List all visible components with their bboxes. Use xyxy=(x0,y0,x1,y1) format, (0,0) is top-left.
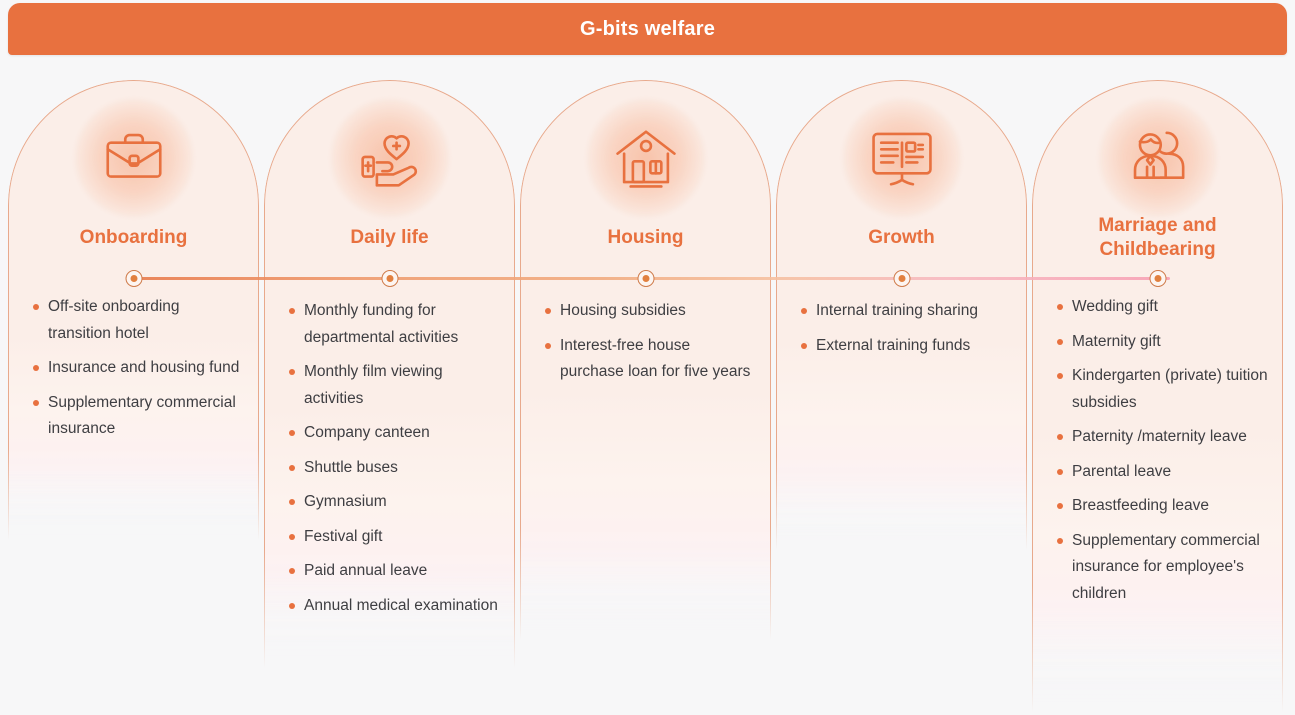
column-title: Marriage and Childbearing xyxy=(1032,214,1283,262)
list-item-label: Supplementary commercial insurance xyxy=(48,394,236,438)
bullet-icon xyxy=(33,304,39,310)
column-title: Onboarding xyxy=(8,226,259,250)
list-item: Interest-free house purchase loan for fi… xyxy=(538,333,757,386)
list-item-label: Parental leave xyxy=(1072,463,1171,480)
benefits-list: Off-site onboarding transition hotel Ins… xyxy=(8,294,259,451)
list-item-label: Company canteen xyxy=(304,424,430,441)
bullet-icon xyxy=(1057,469,1063,475)
bullet-icon xyxy=(289,534,295,540)
list-item-label: Shuttle buses xyxy=(304,459,398,476)
column-title: Daily life xyxy=(264,226,515,250)
column-onboarding: Onboarding Off-site onboarding transitio… xyxy=(8,80,259,712)
timeline-marker xyxy=(637,270,654,287)
list-item: Housing subsidies xyxy=(538,298,757,325)
list-item: Kindergarten (private) tuition subsidies xyxy=(1050,363,1269,416)
column-daily-life: Daily life Monthly funding for departmen… xyxy=(264,80,515,712)
infographic-page: G-bits welfare Onboarding xyxy=(0,0,1295,715)
icon-area xyxy=(520,98,771,218)
list-item-label: Gymnasium xyxy=(304,493,387,510)
bullet-icon xyxy=(545,343,551,349)
icon-area xyxy=(8,98,259,218)
list-item-label: Supplementary commercial insurance for e… xyxy=(1072,532,1260,602)
bullet-icon xyxy=(289,603,295,609)
list-item-label: Annual medical examination xyxy=(304,597,498,614)
column-title: Growth xyxy=(776,226,1027,250)
list-item-label: Maternity gift xyxy=(1072,333,1161,350)
list-item-label: Insurance and housing fund xyxy=(48,359,239,376)
icon-area xyxy=(776,98,1027,218)
list-item: Paternity /maternity leave xyxy=(1050,424,1269,451)
bullet-icon xyxy=(33,365,39,371)
briefcase-icon xyxy=(98,123,170,193)
hand-heart-plus-icon xyxy=(354,123,426,193)
columns-container: Onboarding Off-site onboarding transitio… xyxy=(8,80,1287,712)
list-item-label: Monthly film viewing activities xyxy=(304,363,443,407)
bullet-icon xyxy=(1057,339,1063,345)
couple-icon xyxy=(1122,123,1194,193)
icon-area xyxy=(1032,98,1283,218)
bullet-icon xyxy=(1057,503,1063,509)
list-item: Supplementary commercial insurance for e… xyxy=(1050,528,1269,608)
icon-area xyxy=(264,98,515,218)
list-item: Annual medical examination xyxy=(282,593,501,620)
list-item: Paid annual leave xyxy=(282,558,501,585)
timeline-marker xyxy=(125,270,142,287)
list-item: Company canteen xyxy=(282,420,501,447)
timeline-marker xyxy=(893,270,910,287)
list-item: Monthly funding for departmental activit… xyxy=(282,298,501,351)
bullet-icon xyxy=(289,499,295,505)
benefits-list: Wedding gift Maternity gift Kindergarten… xyxy=(1032,294,1283,615)
bullet-icon xyxy=(289,465,295,471)
list-item: Breastfeeding leave xyxy=(1050,493,1269,520)
bullet-icon xyxy=(1057,373,1063,379)
column-title-line1: Marriage and xyxy=(1032,214,1283,238)
list-item-label: Paid annual leave xyxy=(304,562,427,579)
list-item-label: Off-site onboarding transition hotel xyxy=(48,298,180,342)
list-item: Gymnasium xyxy=(282,489,501,516)
column-title-line2: Childbearing xyxy=(1032,238,1283,262)
list-item: Festival gift xyxy=(282,524,501,551)
bullet-icon xyxy=(289,308,295,314)
list-item-label: Festival gift xyxy=(304,528,382,545)
house-icon xyxy=(610,123,682,193)
bullet-icon xyxy=(33,400,39,406)
header-banner: G-bits welfare xyxy=(8,3,1287,55)
list-item-label: Kindergarten (private) tuition subsidies xyxy=(1072,367,1268,411)
bullet-icon xyxy=(1057,434,1063,440)
page-title: G-bits welfare xyxy=(580,18,715,41)
list-item-label: Wedding gift xyxy=(1072,298,1158,315)
list-item: Shuttle buses xyxy=(282,455,501,482)
list-item: Internal training sharing xyxy=(794,298,1013,325)
list-item-label: Internal training sharing xyxy=(816,302,978,319)
list-item: Parental leave xyxy=(1050,459,1269,486)
column-housing: Housing Housing subsidies Interest-free … xyxy=(520,80,771,712)
list-item-label: Paternity /maternity leave xyxy=(1072,428,1247,445)
bullet-icon xyxy=(289,568,295,574)
benefits-list: Internal training sharing External train… xyxy=(776,298,1027,367)
benefits-list: Monthly funding for departmental activit… xyxy=(264,298,515,627)
column-growth: Growth Internal training sharing Externa… xyxy=(776,80,1027,712)
list-item-label: Breastfeeding leave xyxy=(1072,497,1209,514)
list-item: Insurance and housing fund xyxy=(26,355,245,382)
list-item-label: External training funds xyxy=(816,337,970,354)
bullet-icon xyxy=(289,430,295,436)
list-item: Supplementary commercial insurance xyxy=(26,390,245,443)
timeline-marker xyxy=(1149,270,1166,287)
bullet-icon xyxy=(545,308,551,314)
list-item-label: Interest-free house purchase loan for fi… xyxy=(560,337,750,381)
benefits-list: Housing subsidies Interest-free house pu… xyxy=(520,298,771,394)
bullet-icon xyxy=(801,343,807,349)
timeline-marker xyxy=(381,270,398,287)
column-marriage-childbearing: Marriage and Childbearing Wedding gift M… xyxy=(1032,80,1283,712)
list-item-label: Monthly funding for departmental activit… xyxy=(304,302,458,346)
bullet-icon xyxy=(1057,304,1063,310)
list-item-label: Housing subsidies xyxy=(560,302,686,319)
monitor-book-icon xyxy=(866,123,938,193)
list-item: External training funds xyxy=(794,333,1013,360)
bullet-icon xyxy=(801,308,807,314)
bullet-icon xyxy=(289,369,295,375)
list-item: Maternity gift xyxy=(1050,329,1269,356)
column-title: Housing xyxy=(520,226,771,250)
bullet-icon xyxy=(1057,538,1063,544)
list-item: Monthly film viewing activities xyxy=(282,359,501,412)
list-item: Wedding gift xyxy=(1050,294,1269,321)
list-item: Off-site onboarding transition hotel xyxy=(26,294,245,347)
